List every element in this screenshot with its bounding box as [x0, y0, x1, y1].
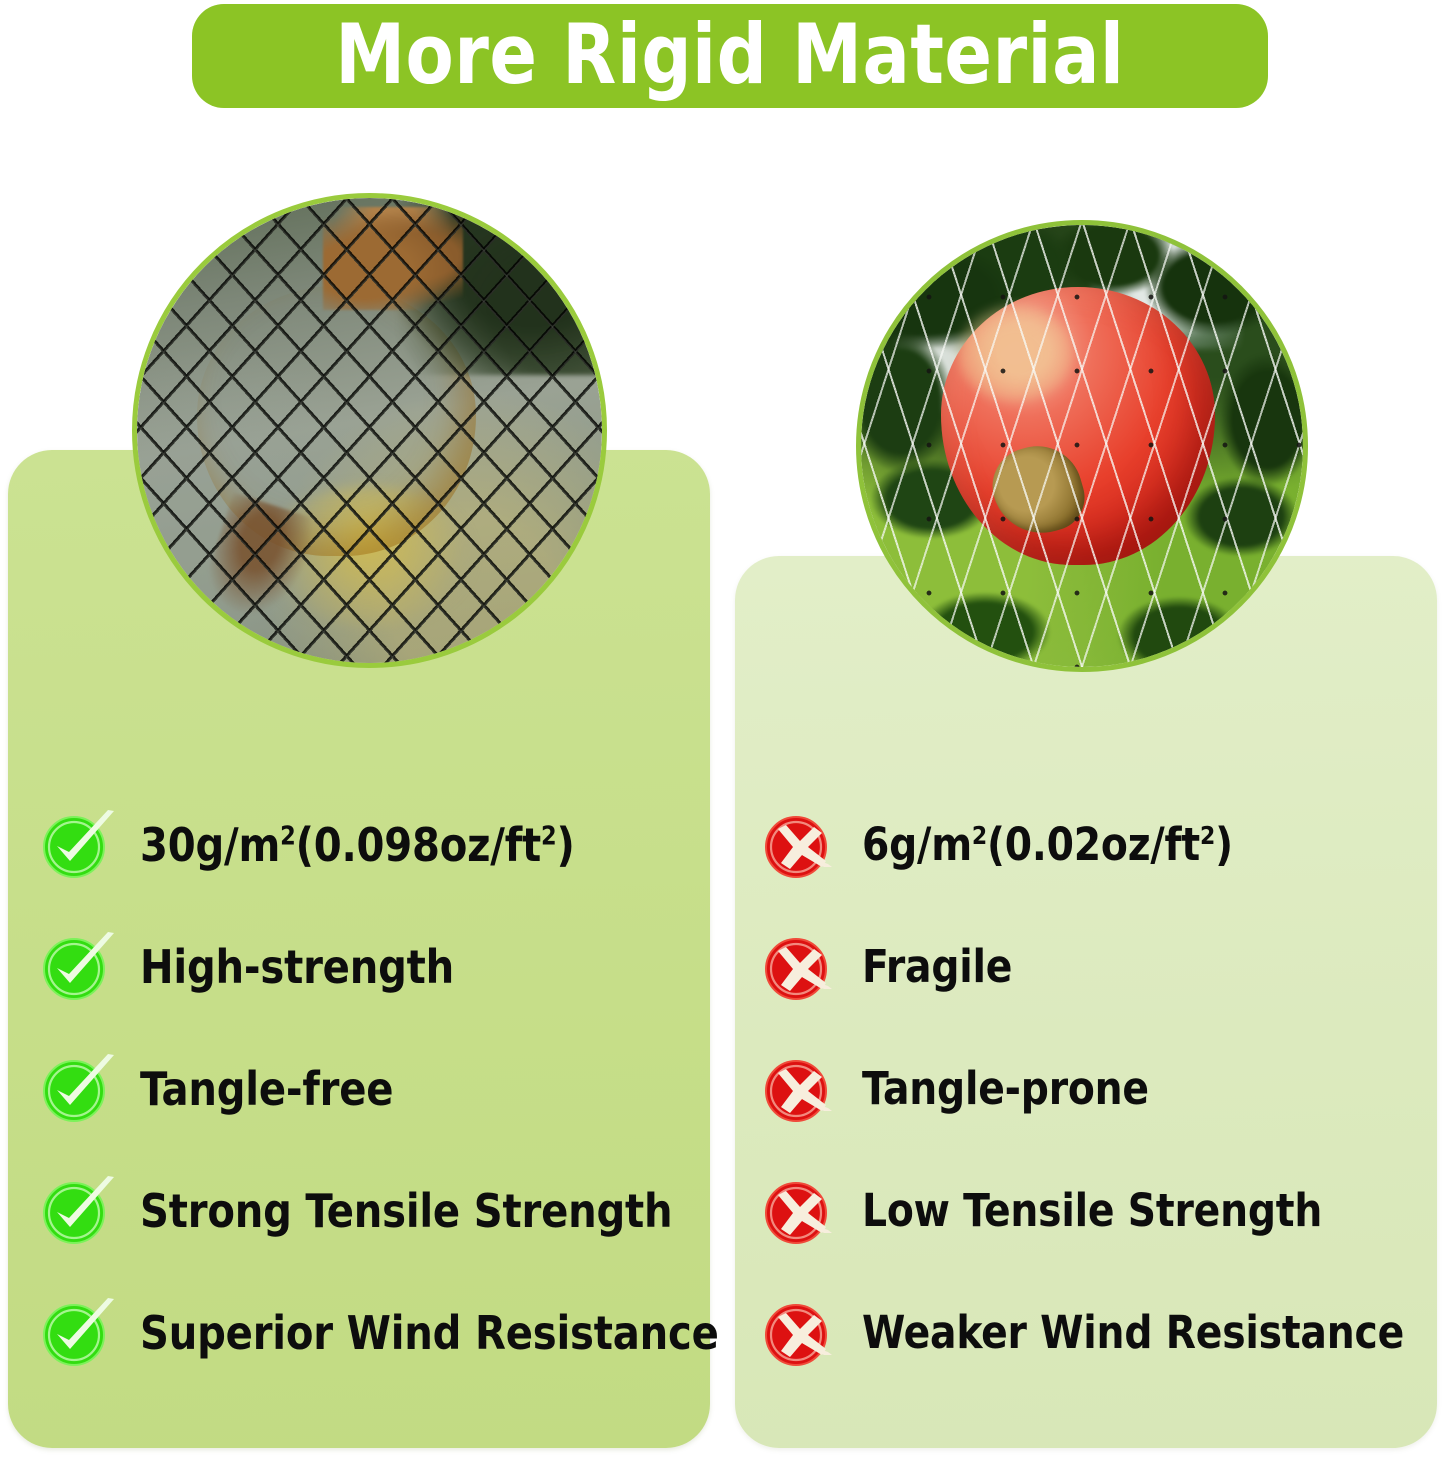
list-item-label: 30g/m2(0.098oz/ft2) — [140, 821, 575, 869]
cross-circle-icon — [762, 1297, 834, 1369]
check-circle-icon — [40, 809, 112, 881]
list-item: Strong Tensile Strength — [40, 1150, 700, 1272]
heavy-mesh-highlight-overlay — [137, 198, 602, 663]
pomegranate-behind-thin-mesh-photo — [856, 220, 1308, 672]
check-circle-icon — [40, 1175, 112, 1247]
list-item: Weaker Wind Resistance — [762, 1272, 1432, 1394]
thin-mesh-knots-overlay — [861, 225, 1303, 667]
good-feature-list: 30g/m2(0.098oz/ft2) High-strength Tangle… — [40, 784, 700, 1394]
list-item-label: Strong Tensile Strength — [140, 1187, 672, 1235]
cross-circle-icon — [762, 809, 834, 881]
list-item: Low Tensile Strength — [762, 1150, 1432, 1272]
list-item: Superior Wind Resistance — [40, 1272, 700, 1394]
photo-inner-good — [137, 198, 602, 663]
list-item: Tangle-prone — [762, 1028, 1432, 1150]
orange-fruit-behind-heavy-mesh-photo — [132, 193, 607, 668]
list-item-label: Superior Wind Resistance — [140, 1309, 719, 1357]
list-item-label: High-strength — [140, 943, 454, 991]
photo-inner-bad — [861, 225, 1303, 667]
list-item: High-strength — [40, 906, 700, 1028]
check-circle-icon — [40, 1053, 112, 1125]
check-circle-icon — [40, 1297, 112, 1369]
list-item-label: 6g/m2(0.02oz/ft2) — [862, 821, 1233, 868]
list-item-label: Low Tensile Strength — [862, 1187, 1322, 1234]
list-item-label: Tangle-prone — [862, 1065, 1149, 1112]
list-item: 30g/m2(0.098oz/ft2) — [40, 784, 700, 906]
list-item-label: Fragile — [862, 943, 1012, 990]
cross-circle-icon — [762, 931, 834, 1003]
cross-circle-icon — [762, 1175, 834, 1247]
cross-circle-icon — [762, 1053, 834, 1125]
bad-feature-list: 6g/m2(0.02oz/ft2) Fragile Tangle-pr — [762, 784, 1432, 1394]
list-item: Tangle-free — [40, 1028, 700, 1150]
list-item: 6g/m2(0.02oz/ft2) — [762, 784, 1432, 906]
list-item: Fragile — [762, 906, 1432, 1028]
list-item-label: Weaker Wind Resistance — [862, 1309, 1404, 1356]
page-title: More Rigid Material — [335, 13, 1124, 96]
header-banner: More Rigid Material — [192, 4, 1268, 108]
list-item-label: Tangle-free — [140, 1065, 393, 1113]
check-circle-icon — [40, 931, 112, 1003]
